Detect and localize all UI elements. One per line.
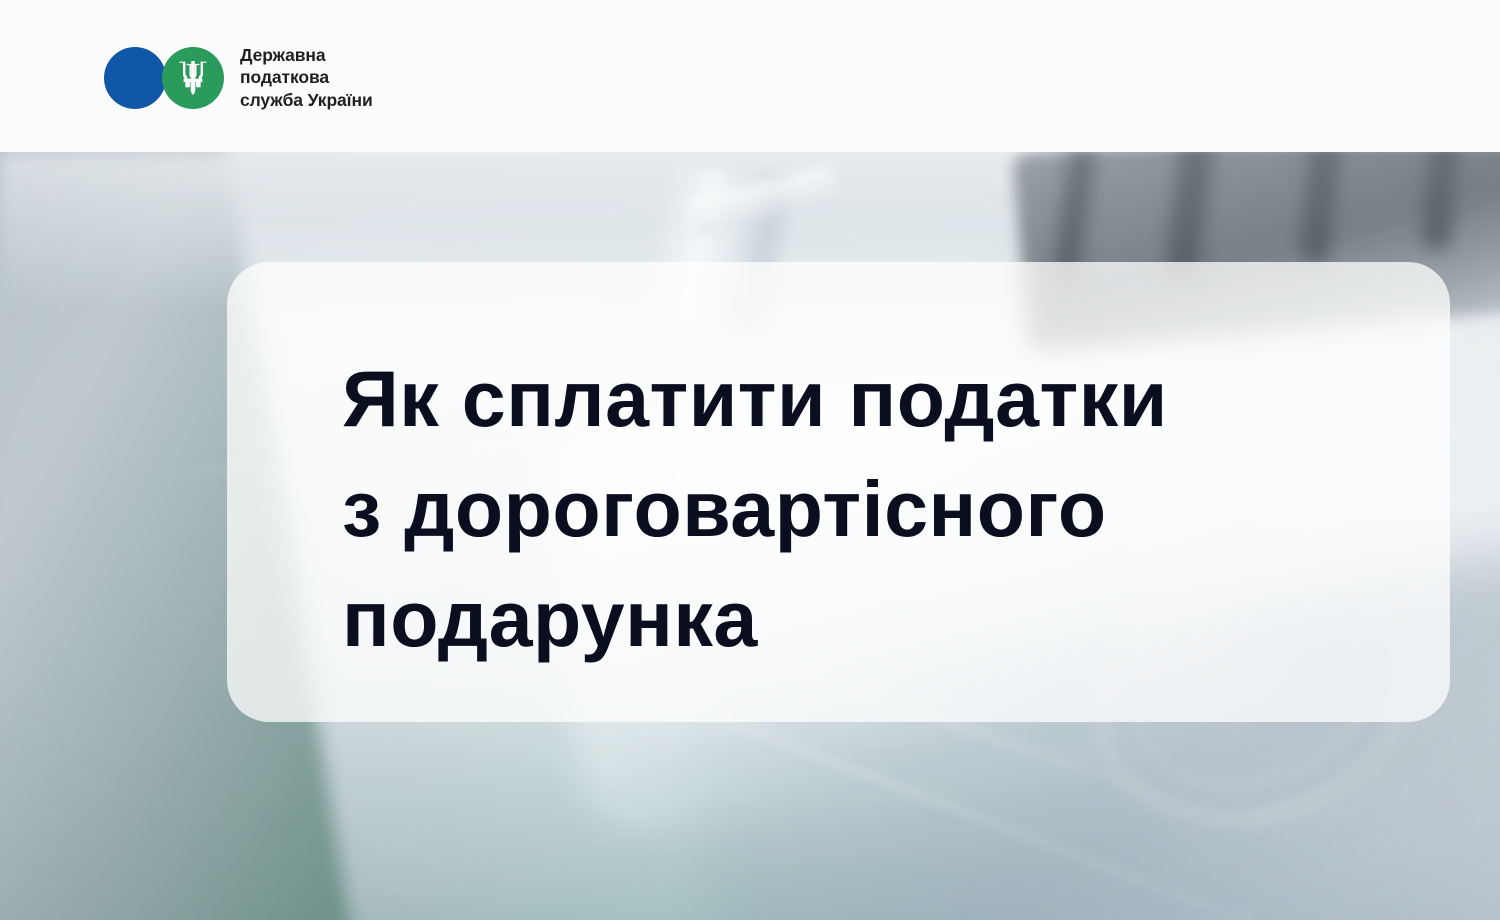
logo-green-circle-icon <box>162 47 224 109</box>
hero-title-line-1: Як сплатити податки <box>342 344 1402 454</box>
hero-title-line-2: з дороговартісного <box>342 454 1402 564</box>
agency-logo[interactable]: Державна податкова служба України <box>104 44 373 111</box>
hero-title: Як сплатити податки з дороговартісного п… <box>342 344 1402 674</box>
logo-blue-circle-icon <box>104 47 166 109</box>
agency-name-line-3: служба України <box>240 89 373 111</box>
site-header: Державна податкова служба України <box>0 0 1500 152</box>
agency-name-line-1: Державна <box>240 44 373 66</box>
hero-title-card: Як сплатити податки з дороговартісного п… <box>227 262 1450 722</box>
agency-logo-text: Державна податкова служба України <box>240 44 373 111</box>
agency-name-line-2: податкова <box>240 66 373 88</box>
page-root: Як сплатити податки з дороговартісного п… <box>0 0 1500 920</box>
hero-title-line-3: подарунка <box>342 564 1402 674</box>
ukraine-trident-icon <box>178 61 208 95</box>
